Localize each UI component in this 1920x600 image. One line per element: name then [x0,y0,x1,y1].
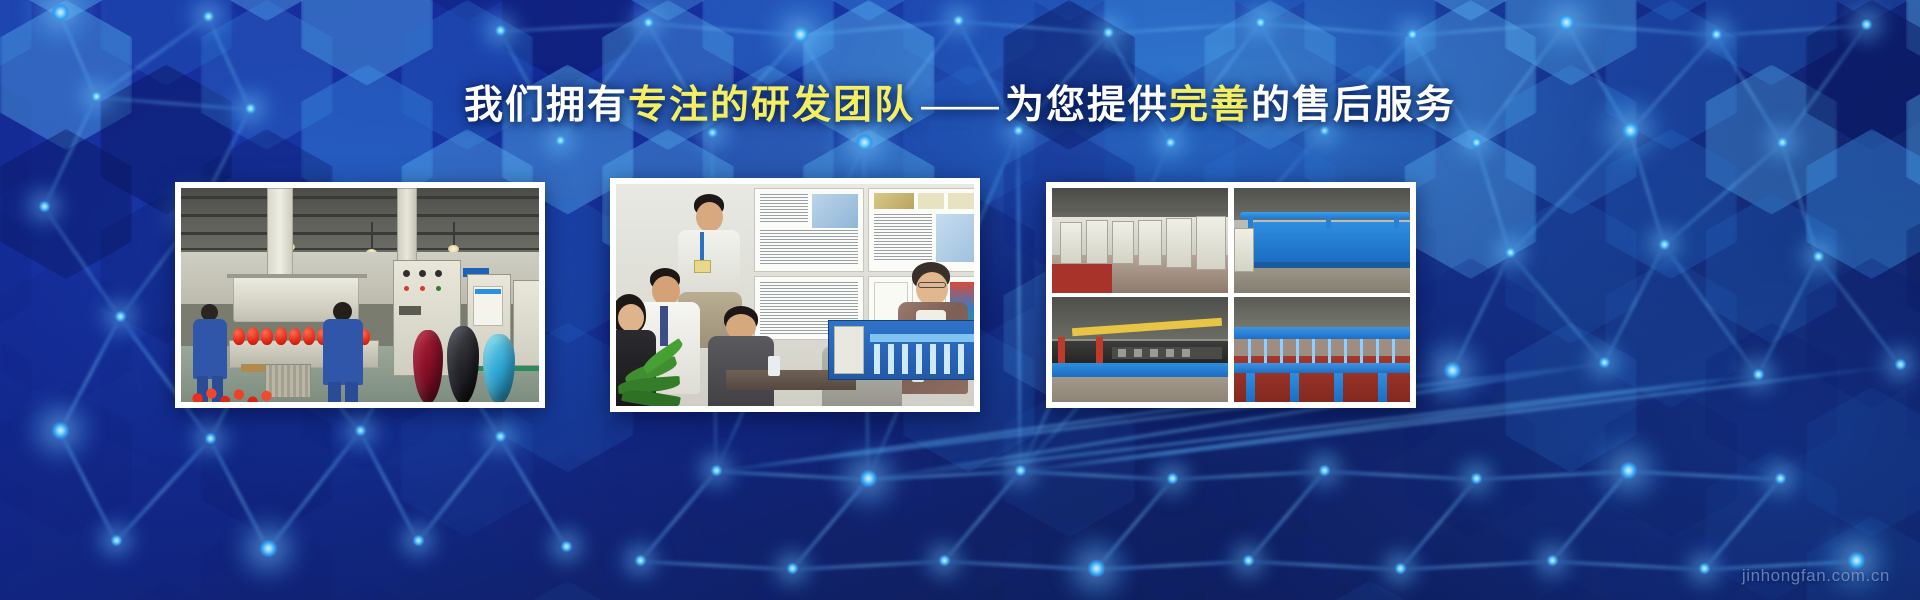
hexagon-tile [1605,129,1737,279]
network-line [1096,560,1248,571]
network-node-glow [475,5,525,55]
network-node [856,134,873,151]
network-line [1703,479,1781,571]
network-node [1165,137,1176,148]
hexagon-tile [201,387,333,537]
red-product-pile [189,376,275,402]
network-line [648,22,800,37]
chain-link [1150,349,1158,357]
network-node [707,127,718,138]
hexagon-tile [1404,0,1536,21]
hexagon-tile [1605,258,1737,408]
network-node [1699,563,1710,574]
hexagon-tile [0,581,32,600]
rack-leg [1246,373,1255,402]
red-product [233,328,245,345]
lamp-cord [371,222,373,250]
equipment-cabinet [1112,221,1134,264]
rack-hook [1360,339,1363,365]
red-floor-strip [1052,264,1112,293]
chain-link [1166,349,1174,357]
hexagon-tile [1304,452,1436,600]
network-line [417,437,501,543]
collage-quadrant-1 [1052,188,1228,293]
network-node-glow [1147,453,1197,503]
network-node [1558,14,1575,31]
network-node-glow [767,543,817,593]
hexagon-tile [1404,258,1536,408]
network-node-glow [1755,453,1805,503]
hexagon-tile [1806,387,1920,537]
cabinet-dial [419,270,426,277]
network-node [711,465,722,476]
rack-leg [1378,373,1387,402]
network-line [639,471,717,563]
roof-beam [181,248,539,250]
sign-header [475,289,501,294]
network-line [716,470,868,481]
hexagon-tile [1204,387,1336,537]
network-node [787,563,798,574]
overhead-pipe [1240,212,1410,219]
promo-banner: 我们拥有专注的研发团队——为您提供完善的售后服务 [0,0,1920,600]
network-node [1471,137,1482,148]
network-line [500,22,648,33]
network-node-glow [1691,9,1741,59]
hexagon-tile [602,516,734,600]
hexagon-tile [702,581,834,600]
hexagon-tile [1003,387,1135,537]
collage-quadrant-2 [1234,188,1410,293]
network-line [1020,470,1172,481]
person-head [696,202,723,232]
network-node [1015,465,1026,476]
hexagon-tile [903,452,1035,600]
banner-headline: 我们拥有专注的研发团队——为您提供完善的售后服务 [0,84,1920,128]
person-head [916,272,948,306]
side-machine [513,280,539,366]
network-node [1243,555,1254,566]
network-node [555,135,566,146]
network-node-glow [1818,522,1894,598]
network-node-glow [1733,349,1783,399]
poster-image [874,193,914,209]
blue-base-rail [1052,363,1228,377]
network-node-glow [185,413,235,463]
hexagon-tile [1104,0,1236,86]
site-watermark: jinhongfan.com.cn [1742,566,1890,586]
network-node-glow [1058,530,1134,600]
worker-leg [328,382,341,402]
red-product [275,327,287,345]
network-node [1547,555,1558,566]
network-node [860,470,877,487]
person-head [618,304,644,332]
hexagon-tile [803,516,935,600]
network-node-glow [623,0,673,47]
hexagon-tile [100,0,232,86]
hexagon-tile [502,452,634,600]
network-node-glow [1679,543,1729,593]
network-node [939,555,950,566]
hexagon-tile [0,387,132,537]
hexagon-tile [100,452,232,600]
network-node-glow [22,0,98,50]
chain-link [1134,349,1142,357]
network-node [1659,239,1670,250]
roof-beam [181,196,539,199]
hexagon-tile [1605,0,1737,21]
hexagon-tile [1104,581,1236,600]
poster-text [760,230,858,266]
photo-production-line [175,182,545,408]
red-post [1096,337,1103,363]
network-node [1167,473,1178,484]
hexagon-tile [1003,516,1135,600]
network-line [1108,22,1260,35]
wood-pallet [241,364,265,372]
network-line [1095,479,1173,571]
network-node [52,4,69,21]
photo-factory-equipment-collage-image [1052,188,1410,402]
network-node [1407,29,1418,40]
network-line [1509,253,1605,365]
cabinet-indicator [436,286,441,291]
equipment-cabinet [1166,218,1192,268]
hexagon-tile [1505,323,1637,473]
network-node [1395,563,1406,574]
network-node-glow [475,411,525,461]
roof-beam [181,214,539,217]
rack-hook [1248,339,1251,365]
network-line [800,20,958,37]
network-node [1088,560,1105,577]
machine-arm [930,344,936,374]
hexagon-tile [1806,0,1920,21]
photo-rd-team-meeting-image [616,184,974,406]
hexagon-tile [1505,452,1637,600]
network-node-glow [1485,227,1535,277]
hexagon-tile [1605,387,1737,537]
hexagon-tile [1906,0,1920,86]
hexagon-tile [502,0,634,86]
network-node [203,11,214,22]
hexagon-tile [1505,0,1637,86]
network-line [499,437,568,549]
rack-hook [1280,339,1283,365]
hexagon-tile [1906,323,1920,473]
network-line [1412,22,1566,37]
network-line [1781,143,1820,258]
poster-image [936,214,974,262]
hexagon-tile [0,323,32,473]
network-node [792,26,809,43]
hexagon-tile [0,452,32,600]
hexagon-tile [702,0,834,86]
machine-cabinet [834,326,864,374]
network-node-glow [1579,337,1629,387]
network-node-glow [1414,332,1490,408]
network-line [1475,143,1512,254]
network-line [791,479,869,571]
red-post [1058,337,1065,363]
cabinet-dial [435,270,442,277]
network-line [1509,130,1631,254]
headline-segment-3: 为您提供 [1005,84,1169,127]
hexagon-tile [1505,581,1637,600]
hexagon-tile [1906,452,1920,600]
pipe-bracket [1248,218,1253,228]
cabinet-badge [399,306,421,315]
hexagon-tile [502,581,634,600]
network-line [1260,22,1412,37]
network-line [640,560,792,571]
pipe-bracket [1326,218,1331,228]
network-line [115,438,211,542]
network-node [643,17,654,28]
equipment-cabinet [1138,220,1162,266]
network-node-glow [183,0,233,41]
network-node-glow [541,521,591,571]
collage-quadrant-3 [1052,297,1228,402]
headline-dash: —— [915,84,1005,127]
network-node-glow [615,535,665,585]
network-line [59,431,118,542]
network-node [1255,17,1266,28]
rack-leg [1334,373,1343,402]
network-node-glow [1451,453,1501,503]
network-line [359,431,420,542]
hexagon-tile [1906,194,1920,344]
network-node [1319,465,1330,476]
network-node-glow [1793,231,1843,281]
hexagon-tile [301,0,433,86]
poster-image [948,193,974,209]
network-line [1247,471,1325,563]
equipment-cabinet [1234,228,1254,272]
id-badge [694,260,711,273]
roof-beam [181,232,539,235]
network-node [355,425,366,436]
network-node-glow [91,515,141,565]
machine-arm [958,344,964,374]
network-node-glow [19,181,69,231]
rack-hook [1376,339,1379,365]
hexagon-tile [1204,0,1336,21]
network-node-glow [995,445,1045,495]
poster-image [812,194,858,228]
worker-body [193,319,227,379]
network-node-glow [1387,9,1437,59]
network-node [1505,247,1516,258]
network-line [1566,22,1716,37]
network-node [1813,251,1824,262]
necktie [660,306,668,346]
photo-rd-team-meeting [610,178,980,412]
hexagon-tile [1806,258,1920,408]
network-node [1444,362,1461,379]
network-line [943,471,1021,563]
red-product [247,327,259,345]
pipe-bracket [1394,218,1399,228]
network-node-glow [1875,339,1920,389]
hexagon-tile [401,516,533,600]
hexagon-tile [1304,0,1436,86]
blue-tunnel-oven [1252,222,1410,262]
hexagon-tile [1404,516,1536,600]
hexagon-tile [0,258,132,408]
network-node-glow [1375,543,1425,593]
network-node [1711,29,1722,40]
headline-segment-0: 我们拥有 [464,84,628,127]
network-node-glow [1590,432,1666,508]
cabinet-dial [403,270,410,277]
overhead-rack [1234,327,1410,339]
network-node-glow [830,440,906,516]
network-line [1552,560,1704,571]
hexagon-tile [803,0,935,21]
network-line [59,317,122,432]
network-node [1599,357,1610,368]
hexagon-tile [903,0,1035,86]
machine-arm [916,344,922,374]
network-node [413,535,424,546]
ceiling-rail [1052,208,1228,212]
rack-hook [1312,339,1315,365]
oven-base [1254,262,1410,268]
hexagon-tile [1404,387,1536,537]
hexagon-tile [1505,194,1637,344]
machine-arm [902,344,908,374]
hexagon-tile [602,0,734,21]
hood-rail [227,274,367,278]
network-line [1172,470,1324,481]
network-node-glow [762,0,838,72]
photo-production-line-image [181,188,539,402]
network-node [495,431,506,442]
network-node-glow [335,405,385,455]
red-product [303,327,315,345]
network-line [792,560,944,571]
hexagon-tile [1304,581,1436,600]
hexagon-tile [0,0,132,21]
hexagon-tile [1806,516,1920,600]
headline-segment-4: 完善 [1169,84,1251,127]
hexagon-tile [1404,129,1536,279]
hexagon-tile [903,581,1035,600]
hexagon-tile [0,516,132,600]
poster-text [760,194,808,224]
hexagon-tile [0,0,32,86]
red-product [261,328,273,345]
network-line [944,560,1096,571]
cabinet-indicator [404,286,409,291]
network-node [1471,473,1482,484]
network-node [953,15,964,26]
hexagon-tile [201,0,333,21]
network-line [1248,560,1400,571]
headline-segment-1: 专注的研发团队 [628,84,915,127]
hexagon-tile [1605,516,1737,600]
network-node [1753,369,1764,380]
network-node-glow [1639,219,1689,269]
network-line [1716,24,1866,37]
network-node-glow [691,445,741,495]
network-line [1629,131,1666,246]
hexagon-tile [1906,581,1920,600]
hexagon-tile [1705,194,1837,344]
network-node-glow [933,0,983,45]
network-line [1663,142,1783,246]
network-line [209,439,270,550]
network-node-glow [393,515,443,565]
water-bottle [768,356,780,376]
network-node [495,25,506,36]
network-node-glow [1223,535,1273,585]
network-node [1620,462,1637,479]
network-line [1757,257,1820,376]
network-node-glow [1235,0,1285,47]
network-line [1400,560,1552,571]
network-node-glow [1299,445,1349,495]
worker-body [323,319,363,385]
network-node [1861,19,1872,30]
network-line [267,431,361,551]
photo-factory-equipment-collage [1046,182,1416,408]
machine-arm [888,344,894,374]
machine-arm [944,344,950,374]
network-node [1895,359,1906,370]
lamp-cord [453,222,455,246]
network-line [1663,245,1759,377]
red-product [289,328,301,345]
network-node-glow [1083,7,1133,57]
network-line [1603,245,1666,364]
hexagon-tile [401,0,533,21]
machine-rail [870,334,974,342]
lanyard [700,232,704,262]
network-node-glow [22,392,98,468]
hexagon-tile [1204,516,1336,600]
equipment-cabinet [1086,220,1108,264]
headline-segment-5: 的售后服务 [1251,84,1456,127]
equipment-cabinet [1060,222,1082,264]
network-line [1628,470,1780,481]
network-line [1017,131,1022,471]
collage-quadrant-4 [1234,297,1410,402]
network-line [43,207,121,319]
rack-hook [1264,339,1267,365]
hexagon-tile [702,452,834,600]
network-node [111,535,122,546]
network-node [1775,473,1786,484]
network-line [1817,257,1901,367]
network-node [1777,137,1788,148]
network-line [1551,471,1629,563]
hexagon-tile [1705,0,1837,86]
hexagon-tile [1705,323,1837,473]
network-node-glow [1841,0,1891,49]
chain-link [1118,349,1126,357]
network-node [561,541,572,552]
network-line [958,20,1108,35]
network-node [52,422,69,439]
network-node-glow [95,291,145,341]
network-line [868,470,1020,481]
lower-rack [1234,363,1410,373]
network-node [635,555,646,566]
network-line [1451,253,1512,372]
